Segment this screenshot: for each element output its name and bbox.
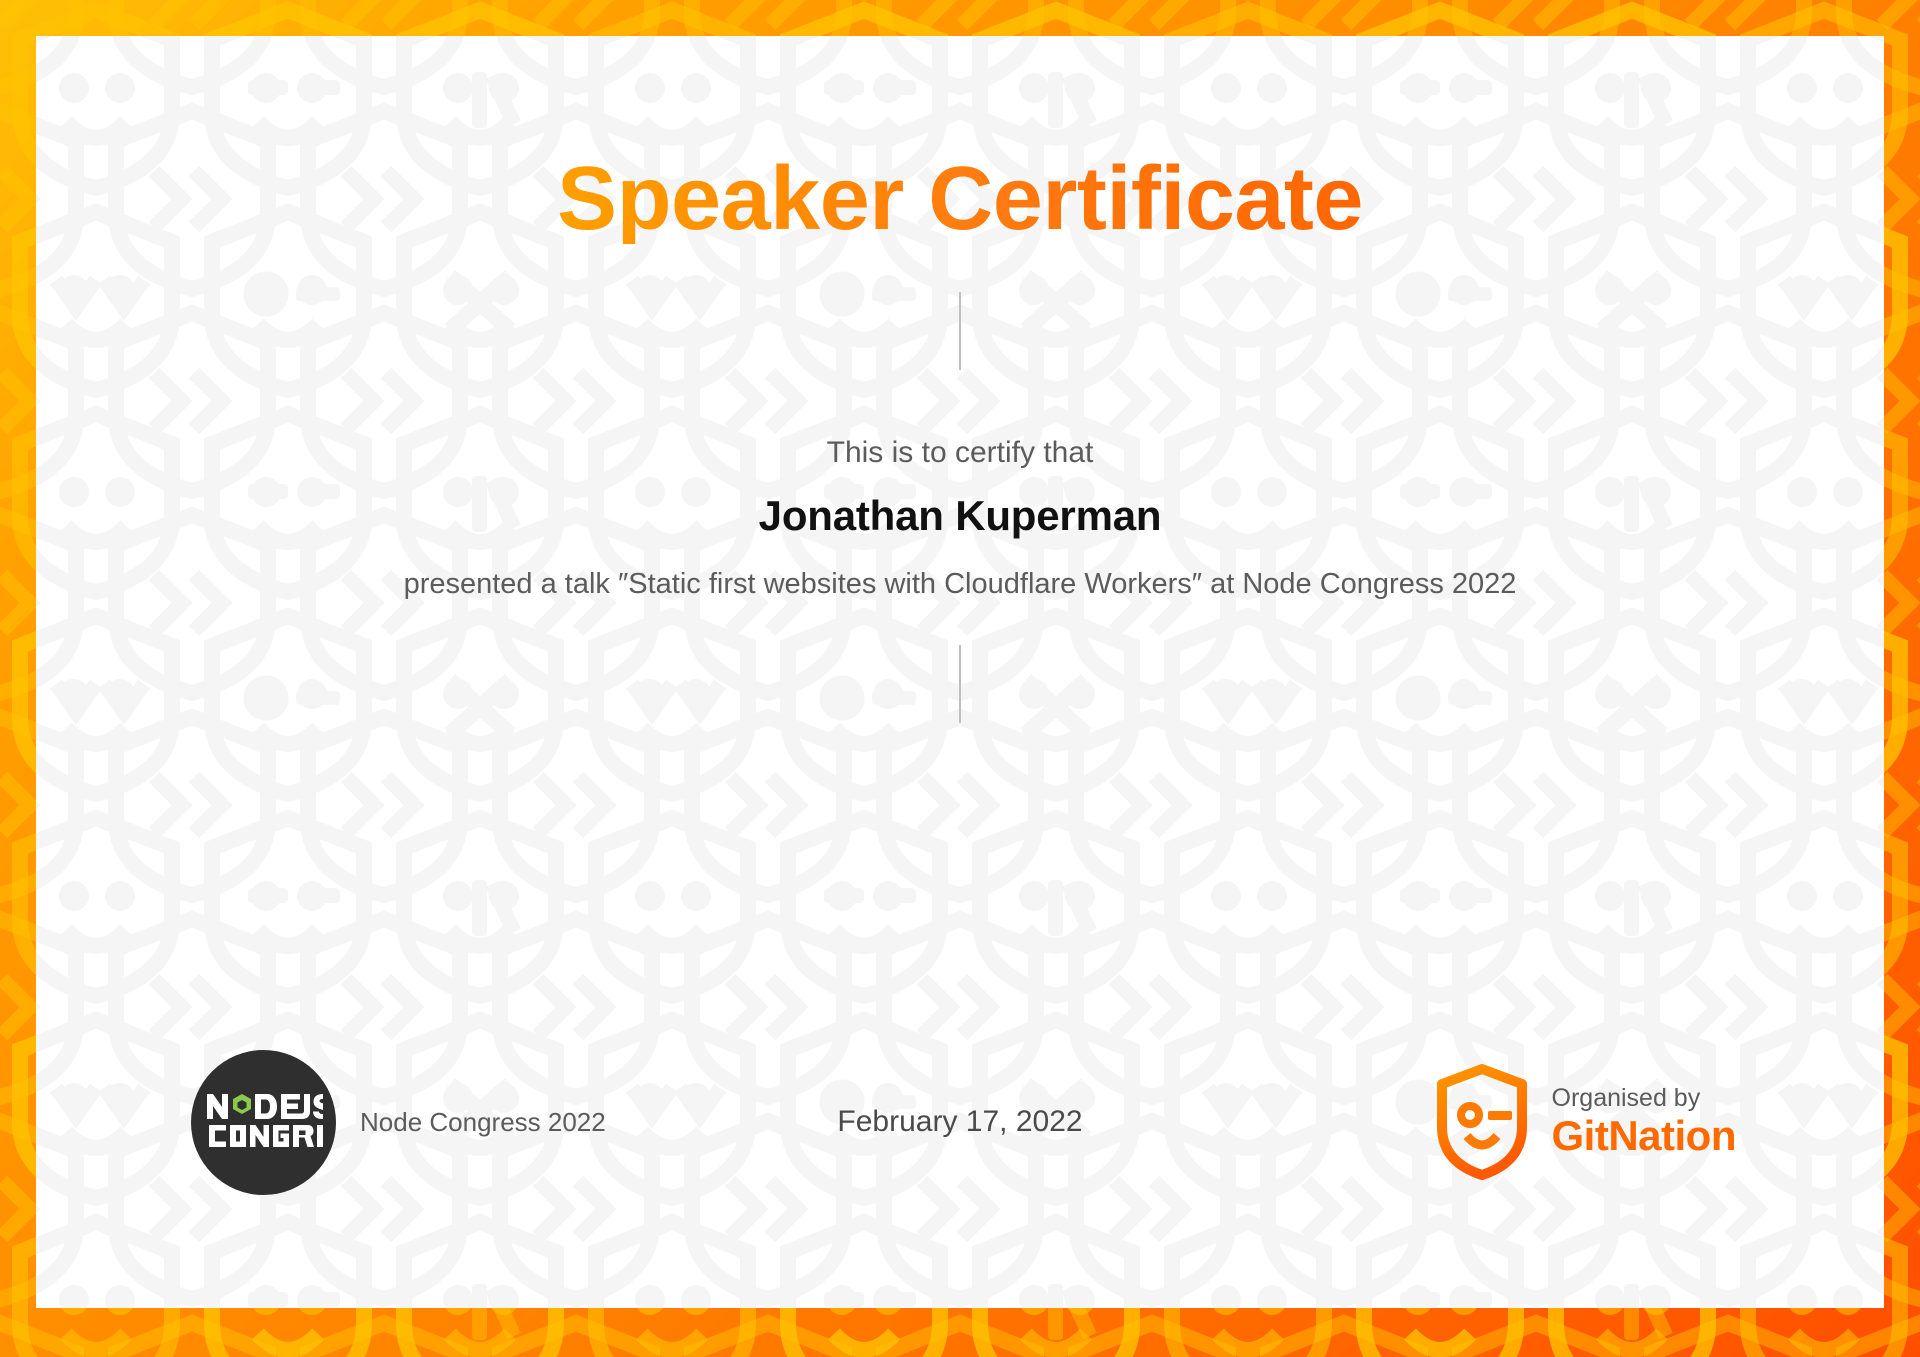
certify-line: This is to certify that (827, 436, 1094, 470)
footer-organiser-block: Organised by GitNation (1434, 1063, 1736, 1181)
organiser-name: GitNation (1552, 1112, 1736, 1159)
certificate-footer: Node Congress 2022 February 17, 2022 (36, 1058, 1884, 1186)
footer-event-block: Node Congress 2022 (191, 1050, 606, 1195)
footer-event-label: Node Congress 2022 (360, 1107, 606, 1138)
nodejs-congress-wordmark (205, 1091, 323, 1153)
organiser-text-block: Organised by GitNation (1552, 1084, 1736, 1159)
talk-description: presented a talk ″Static first websites … (340, 564, 1580, 605)
certificate: Speaker Certificate This is to certify t… (0, 0, 1920, 1357)
nodejs-congress-logo (191, 1050, 336, 1195)
organised-by-label: Organised by (1552, 1084, 1736, 1112)
gitnation-shield-icon (1434, 1063, 1530, 1181)
page-title: Speaker Certificate (557, 154, 1363, 244)
divider-top (959, 292, 961, 370)
certificate-panel: Speaker Certificate This is to certify t… (36, 36, 1884, 1308)
recipient-name: Jonathan Kuperman (759, 492, 1162, 540)
divider-bottom (959, 645, 961, 723)
certificate-date: February 17, 2022 (837, 1105, 1082, 1139)
